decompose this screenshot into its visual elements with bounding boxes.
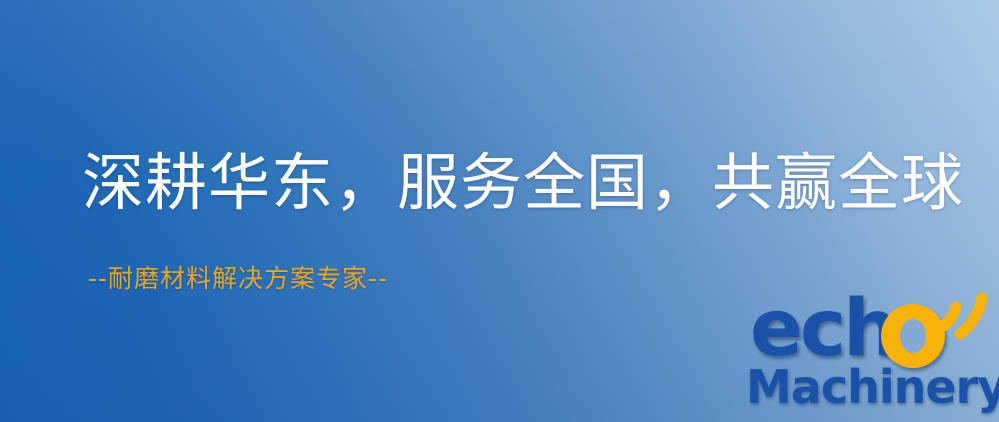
banner-headline: 深耕华东，服务全国，共赢全球	[82, 152, 964, 214]
logo-primary-row: ech	[744, 296, 996, 368]
banner-subtitle: --耐磨材料解决方案专家--	[88, 266, 388, 291]
logo-text-machinery: Machinery	[746, 364, 999, 410]
promotional-banner: 深耕华东，服务全国，共赢全球 --耐磨材料解决方案专家-- ech Machin…	[0, 0, 999, 422]
logo-text-ech: ech	[750, 290, 896, 368]
logo-signal-waves-icon	[930, 290, 996, 352]
logo-secondary-row: Machinery ®	[746, 364, 996, 420]
company-logo: ech Machinery ®	[744, 296, 996, 420]
